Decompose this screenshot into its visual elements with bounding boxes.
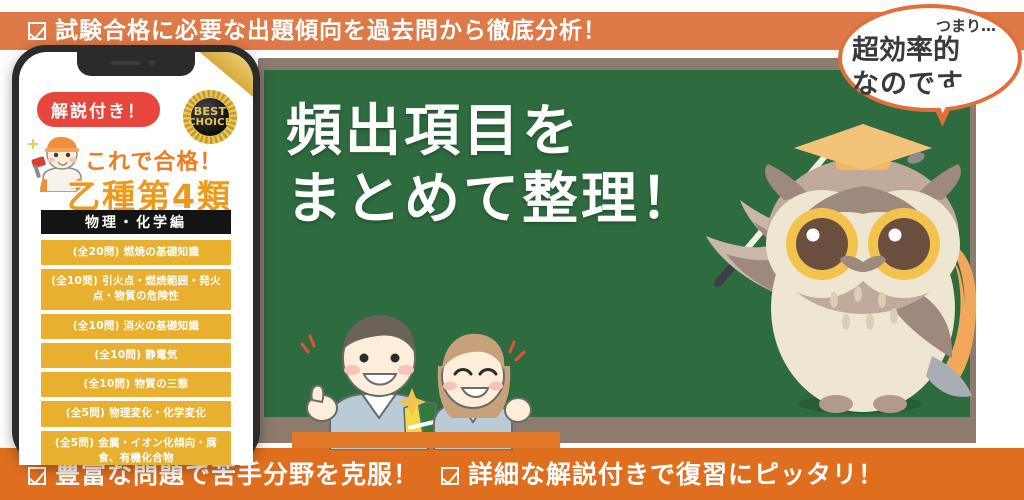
- quiz-list-item[interactable]: (全5問) 物理変化・化学変化: [41, 401, 231, 426]
- phone-screen: BEST CHOICE 解説付き！: [19, 52, 253, 465]
- seal-center: BEST CHOICE: [190, 97, 230, 137]
- best-choice-seal: BEST CHOICE: [183, 90, 237, 144]
- quiz-list-item[interactable]: (全10問) 物質の三態: [41, 372, 231, 397]
- blackboard-line-2: まとめて整理！: [286, 166, 699, 234]
- seal-line-1: BEST: [194, 106, 227, 118]
- promo-banner: 試験合格に必要な出題傾向を過去問から徹底分析！ 頻出項目を まとめて整理！: [0, 0, 1024, 500]
- checked-box-icon: [28, 467, 46, 485]
- phone-notch: [77, 52, 195, 76]
- checked-box-icon: [441, 467, 459, 485]
- desk-front: [292, 432, 560, 448]
- header-text-row: 試験合格に必要な出題傾向を過去問から徹底分析！: [28, 20, 607, 43]
- footer-text-row: 豊富な問題で苦手分野を克服！詳細な解説付きで復習にピッタリ！: [28, 462, 884, 487]
- quiz-list-item[interactable]: (全10問) 引火点・燃焼範囲・発火点・物質の危険性: [41, 269, 231, 309]
- students-group: [300, 300, 550, 450]
- sparkle-icon: [302, 336, 314, 352]
- phone-subtitle: 物理・化学編: [85, 212, 187, 232]
- blackboard-text: 頻出項目を まとめて整理！: [286, 98, 699, 235]
- header-headline: 試験合格に必要な出題傾向を過去問から徹底分析！: [55, 18, 607, 44]
- kaisetsu-badge: 解説付き！: [37, 92, 160, 127]
- quiz-list-item[interactable]: (全10問) 静電気: [41, 343, 231, 368]
- blackboard-line-1: 頻出項目を: [286, 98, 699, 166]
- speech-bubble: つまり… 超効率的 なのです: [838, 4, 1022, 112]
- seal-line-2: CHOICE: [188, 118, 232, 129]
- quiz-list-item[interactable]: (全20問) 燃焼の基礎知識: [41, 240, 231, 265]
- speech-bubble-tail-fill: [932, 87, 957, 115]
- checked-box-icon: [28, 22, 46, 40]
- quiz-list-item[interactable]: (全10問) 消火の基礎知識: [41, 314, 231, 339]
- footer-item-2: 詳細な解説付きで復習にピッタリ！: [468, 460, 884, 489]
- owl-professor-icon: [700, 108, 1010, 438]
- quiz-list: (全20問) 燃焼の基礎知識(全10問) 引火点・燃焼範囲・発火点・物質の危険性…: [41, 240, 231, 465]
- phone-subtitle-bar: 物理・化学編: [41, 210, 231, 234]
- phone-mockup: BEST CHOICE 解説付き！: [12, 45, 260, 465]
- quiz-list-item[interactable]: (全5問) 金属・イオン化傾向・腐食、有機化合物: [41, 431, 231, 465]
